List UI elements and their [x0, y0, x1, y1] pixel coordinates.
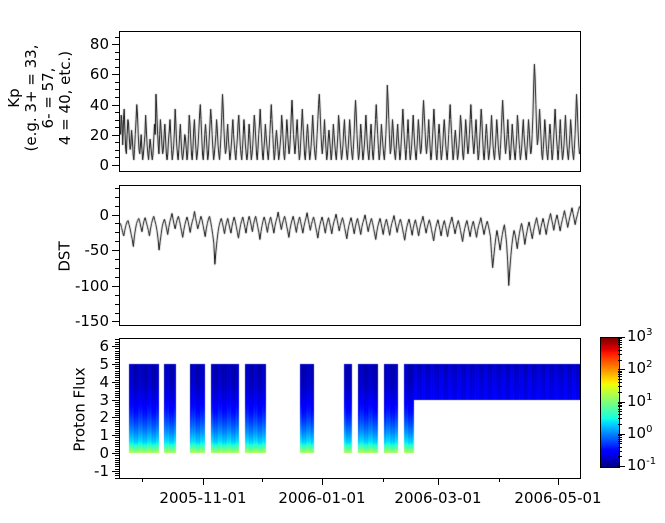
tick-mark	[322, 478, 323, 485]
tick-mark	[618, 340, 622, 341]
tick-mark	[115, 449, 119, 450]
kp-y-tick-label: 40	[90, 96, 109, 114]
tick-mark	[112, 286, 119, 287]
tick-mark	[618, 437, 622, 438]
dst-y-tick-label: -100	[75, 277, 109, 295]
tick-mark	[618, 424, 622, 425]
tick-mark	[115, 393, 119, 394]
tick-mark	[115, 475, 119, 476]
tick-mark	[115, 351, 119, 352]
kp-axis-label: Kp (e.g. 3+ = 33, 6- = 57, 4 = 40, etc.)	[6, 38, 74, 158]
x-tick-label: 2006-05-01	[503, 489, 613, 507]
tick-mark	[618, 372, 622, 373]
tick-mark	[618, 439, 622, 440]
pf-y-tick-label: 0	[99, 444, 109, 462]
tick-mark	[115, 127, 119, 128]
tick-mark	[115, 342, 119, 343]
tick-mark	[618, 443, 622, 444]
tick-mark	[618, 376, 622, 377]
tick-mark	[115, 446, 119, 447]
tick-mark	[618, 406, 622, 407]
tick-mark	[618, 405, 622, 406]
tick-mark	[115, 411, 119, 412]
tick-mark	[618, 456, 622, 457]
tick-mark	[618, 447, 622, 448]
tick-mark	[618, 379, 622, 380]
dst-y-tick-label: -150	[75, 312, 109, 330]
tick-mark	[115, 420, 119, 421]
tick-mark	[115, 344, 119, 345]
x-tick-label: 2006-01-01	[267, 489, 377, 507]
tick-mark	[115, 429, 119, 430]
tick-mark	[618, 354, 622, 355]
tick-mark	[618, 466, 625, 467]
tick-mark	[115, 97, 119, 98]
figure-canvas: Kp (e.g. 3+ = 33, 6- = 57, 4 = 40, etc.)…	[0, 0, 665, 523]
tick-mark	[142, 478, 143, 482]
kp-y-tick-label: 60	[90, 65, 109, 83]
tick-mark	[115, 362, 119, 363]
proton-flux-heatmap-canvas	[120, 339, 580, 478]
tick-mark	[115, 466, 119, 467]
tick-mark	[115, 424, 119, 425]
tick-mark	[115, 478, 119, 479]
tick-mark	[115, 355, 119, 356]
dst-series-canvas	[120, 186, 580, 325]
tick-mark	[115, 120, 119, 121]
pf-y-tick-label: 4	[99, 373, 109, 391]
tick-mark	[618, 382, 622, 383]
tick-mark	[115, 426, 119, 427]
tick-mark	[115, 37, 119, 38]
tick-mark	[618, 386, 622, 387]
tick-mark	[115, 409, 119, 410]
tick-mark	[115, 386, 119, 387]
pf-y-tick-label: -1	[94, 462, 109, 480]
dst-y-tick-label: -50	[85, 241, 110, 259]
tick-mark	[115, 375, 119, 376]
tick-mark	[618, 342, 622, 343]
colorbar-tick-label: 10-1	[627, 456, 656, 474]
tick-mark	[115, 451, 119, 452]
tick-mark	[115, 371, 119, 372]
tick-mark	[115, 259, 119, 260]
tick-mark	[115, 304, 119, 305]
tick-mark	[115, 157, 119, 158]
tick-mark	[115, 348, 119, 349]
tick-mark	[112, 105, 119, 106]
kp-series-canvas	[120, 32, 580, 171]
tick-mark	[618, 350, 622, 351]
tick-mark	[115, 82, 119, 83]
tick-mark	[115, 52, 119, 53]
tick-mark	[115, 404, 119, 405]
tick-mark	[112, 417, 119, 418]
tick-mark	[618, 403, 622, 404]
tick-mark	[115, 373, 119, 374]
tick-mark	[438, 478, 439, 485]
colorbar-tick-label: 100	[627, 424, 652, 442]
tick-mark	[115, 406, 119, 407]
dst-y-tick-label: 0	[99, 206, 109, 224]
tick-mark	[115, 112, 119, 113]
dst-axis-label: DST	[57, 227, 74, 287]
tick-mark	[112, 321, 119, 322]
tick-mark	[618, 344, 622, 345]
tick-mark	[115, 59, 119, 60]
tick-mark	[499, 478, 500, 482]
pf-y-tick-label: 2	[99, 408, 109, 426]
tick-mark	[203, 478, 204, 485]
tick-mark	[115, 464, 119, 465]
tick-mark	[115, 223, 119, 224]
tick-mark	[115, 359, 119, 360]
tick-mark	[115, 422, 119, 423]
tick-mark	[112, 74, 119, 75]
tick-mark	[115, 197, 119, 198]
kp-y-tick-label: 0	[99, 156, 109, 174]
tick-mark	[115, 473, 119, 474]
tick-mark	[618, 435, 622, 436]
tick-mark	[115, 353, 119, 354]
x-tick-label: 2006-03-01	[383, 489, 493, 507]
tick-mark	[383, 478, 384, 482]
tick-mark	[115, 295, 119, 296]
tick-mark	[618, 371, 622, 372]
tick-mark	[115, 462, 119, 463]
tick-mark	[115, 458, 119, 459]
tick-mark	[115, 444, 119, 445]
pf-y-tick-label: 5	[99, 355, 109, 373]
tick-mark	[115, 366, 119, 367]
tick-mark	[115, 431, 119, 432]
colorbar-tick-label: 101	[627, 392, 652, 410]
tick-mark	[115, 150, 119, 151]
tick-mark	[618, 347, 622, 348]
tick-mark	[618, 451, 622, 452]
tick-mark	[115, 380, 119, 381]
tick-mark	[112, 135, 119, 136]
colorbar-tick-label: 103	[627, 327, 652, 345]
tick-mark	[115, 339, 119, 340]
tick-mark	[115, 206, 119, 207]
tick-mark	[115, 440, 119, 441]
tick-mark	[115, 388, 119, 389]
tick-mark	[115, 313, 119, 314]
tick-mark	[115, 232, 119, 233]
tick-mark	[115, 377, 119, 378]
tick-mark	[115, 437, 119, 438]
pf-y-tick-label: 1	[99, 426, 109, 444]
tick-mark	[112, 215, 119, 216]
tick-mark	[115, 469, 119, 470]
pf-y-tick-label: 3	[99, 391, 109, 409]
tick-mark	[115, 397, 119, 398]
tick-mark	[115, 395, 119, 396]
tick-mark	[115, 142, 119, 143]
tick-mark	[618, 411, 622, 412]
tick-mark	[115, 368, 119, 369]
tick-mark	[618, 338, 622, 339]
tick-mark	[618, 414, 622, 415]
tick-mark	[618, 409, 622, 410]
tick-mark	[115, 402, 119, 403]
tick-mark	[115, 433, 119, 434]
tick-mark	[115, 391, 119, 392]
tick-mark	[262, 478, 263, 482]
tick-mark	[112, 44, 119, 45]
tick-mark	[115, 89, 119, 90]
x-tick-label: 2005-11-01	[148, 489, 258, 507]
tick-mark	[618, 392, 622, 393]
tick-mark	[115, 277, 119, 278]
pf-y-tick-label: 6	[99, 337, 109, 355]
tick-mark	[115, 460, 119, 461]
tick-mark	[115, 357, 119, 358]
proton-flux-axis-label: Proton Flux	[72, 350, 89, 470]
tick-mark	[115, 384, 119, 385]
tick-mark	[115, 455, 119, 456]
tick-mark	[112, 165, 119, 166]
tick-mark	[618, 374, 622, 375]
kp-y-tick-label: 20	[90, 126, 109, 144]
tick-mark	[115, 268, 119, 269]
tick-mark	[618, 418, 622, 419]
tick-mark	[115, 188, 119, 189]
kp-y-tick-label: 80	[90, 35, 109, 53]
tick-mark	[112, 250, 119, 251]
tick-mark	[115, 413, 119, 414]
tick-mark	[558, 478, 559, 485]
tick-mark	[115, 415, 119, 416]
tick-mark	[115, 442, 119, 443]
tick-mark	[618, 441, 622, 442]
colorbar-tick-label: 102	[627, 359, 652, 377]
tick-mark	[618, 360, 622, 361]
colorbar-gradient	[600, 337, 620, 468]
tick-mark	[115, 67, 119, 68]
tick-mark	[115, 241, 119, 242]
